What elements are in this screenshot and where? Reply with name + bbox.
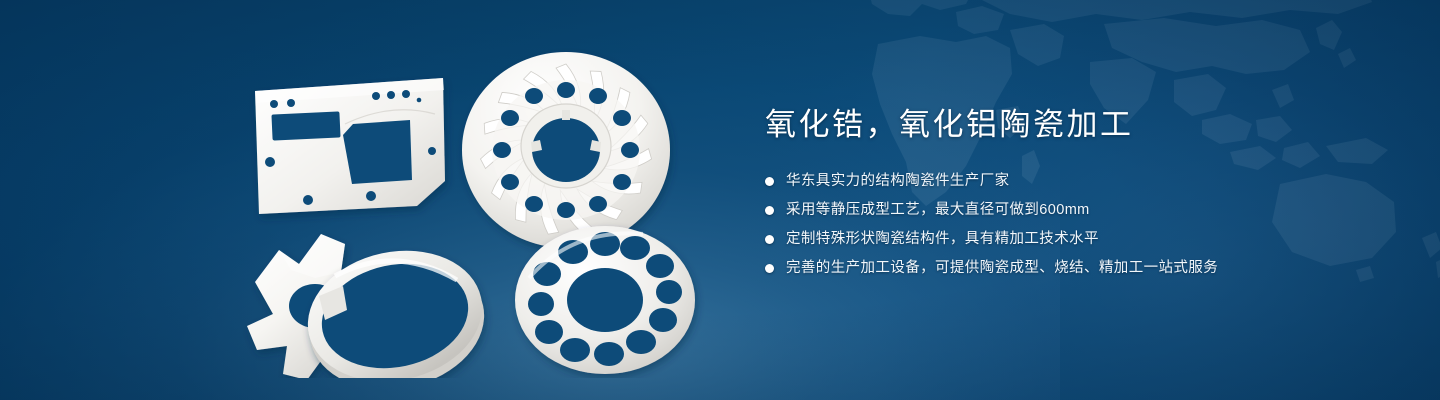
list-item: 采用等静压成型工艺，最大直径可做到600mm [765,200,1385,220]
banner-copy: 氧化锆，氧化铝陶瓷加工 华东具实力的结构陶瓷件生产厂家 采用等静压成型工艺，最大… [765,106,1385,287]
list-item: 定制特殊形状陶瓷结构件，具有精加工技术水平 [765,229,1385,249]
page-title: 氧化锆，氧化铝陶瓷加工 [765,106,1385,143]
list-item: 完善的生产加工设备，可提供陶瓷成型、烧结、精加工一站式服务 [765,258,1385,278]
feature-text: 完善的生产加工设备，可提供陶瓷成型、烧结、精加工一站式服务 [786,258,1218,278]
bullet-dot-icon [765,264,774,273]
bullet-dot-icon [765,235,774,244]
ceramic-plate-photo [255,78,445,214]
bullet-dot-icon [765,177,774,186]
feature-text: 华东具实力的结构陶瓷件生产厂家 [786,171,1010,191]
feature-list: 华东具实力的结构陶瓷件生产厂家 采用等静压成型工艺，最大直径可做到600mm 定… [765,171,1385,278]
hero-banner: 氧化锆，氧化铝陶瓷加工 华东具实力的结构陶瓷件生产厂家 采用等静压成型工艺，最大… [0,0,1440,400]
product-photo-group [195,28,705,378]
ceramic-impeller-photo [462,52,670,248]
list-item: 华东具实力的结构陶瓷件生产厂家 [765,171,1385,191]
ceramic-perforated-disc-photo [515,226,695,374]
bullet-dot-icon [765,206,774,215]
feature-text: 采用等静压成型工艺，最大直径可做到600mm [786,200,1090,220]
feature-text: 定制特殊形状陶瓷结构件，具有精加工技术水平 [786,229,1099,249]
